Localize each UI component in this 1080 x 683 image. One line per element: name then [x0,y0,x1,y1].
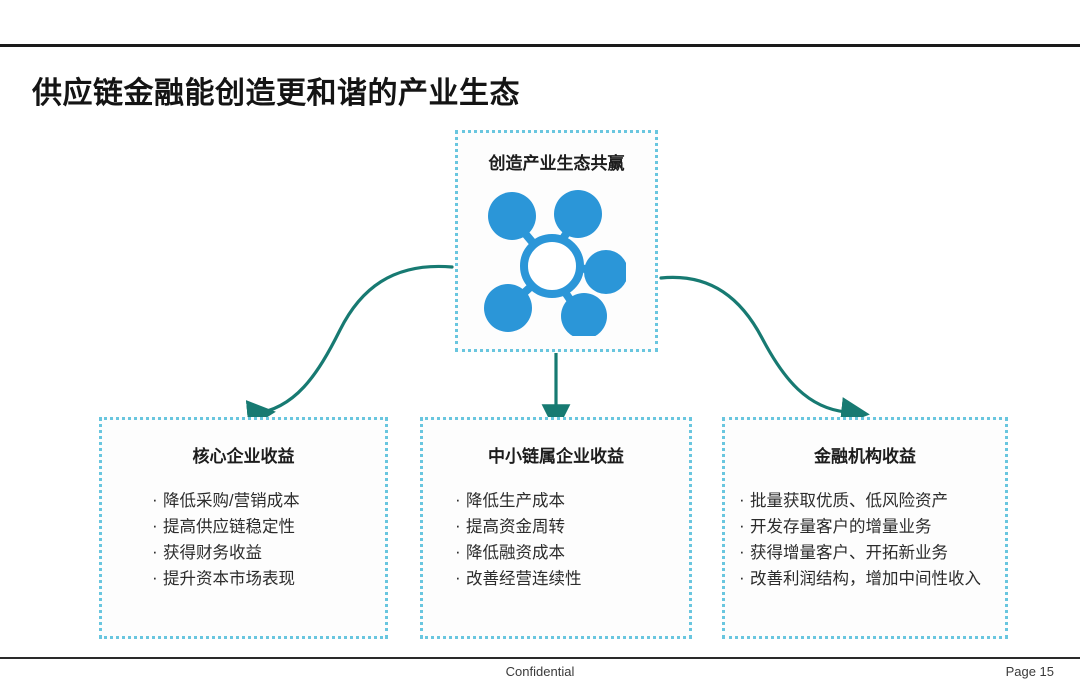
financial-institution-box: 金融机构收益 批量获取优质、低风险资产 开发存量客户的增量业务 获得增量客户、开… [722,417,1008,639]
sme-chain-box: 中小链属企业收益 降低生产成本 提高资金周转 降低融资成本 改善经营连续性 [420,417,692,639]
arrow-to-right-box [661,277,846,412]
list-item: 降低融资成本 [455,540,582,566]
hub-node-top-left [488,192,536,240]
hub-node-top-right [554,190,602,238]
list-item: 提升资本市场表现 [152,566,300,592]
list-item: 改善利润结构，增加中间性收入 [739,566,981,592]
list-item: 改善经营连续性 [455,566,582,592]
footer-divider [0,657,1080,659]
header-divider [0,44,1080,47]
list-item: 提高供应链稳定性 [152,514,300,540]
financial-institution-bullets: 批量获取优质、低风险资产 开发存量客户的增量业务 获得增量客户、开拓新业务 改善… [739,488,981,592]
core-enterprise-bullets: 降低采购/营销成本 提高供应链稳定性 获得财务收益 提升资本市场表现 [152,488,300,592]
sme-chain-bullets: 降低生产成本 提高资金周转 降低融资成本 改善经营连续性 [455,488,582,592]
hub-node-bottom-left [484,284,532,332]
list-item: 获得财务收益 [152,540,300,566]
sme-chain-title: 中小链属企业收益 [423,442,689,467]
core-enterprise-title: 核心企业收益 [102,442,385,467]
list-item: 提高资金周转 [455,514,582,540]
hub-center-ring [524,238,580,294]
footer-confidential: Confidential [0,664,1080,679]
financial-institution-title: 金融机构收益 [725,442,1005,467]
list-item: 开发存量客户的增量业务 [739,514,981,540]
arrow-to-left-box [252,266,452,414]
list-item: 降低采购/营销成本 [152,488,300,514]
network-hub-icon [466,186,626,336]
hub-node-right [584,250,626,294]
ecosystem-box-title: 创造产业生态共赢 [458,149,655,174]
slide-canvas: 供应链金融能创造更和谐的产业生态 创造产业生态共赢 [0,0,1080,683]
core-enterprise-box: 核心企业收益 降低采购/营销成本 提高供应链稳定性 获得财务收益 提升资本市场表… [99,417,388,639]
list-item: 降低生产成本 [455,488,582,514]
footer-page-number: Page 15 [1006,664,1054,679]
page-title: 供应链金融能创造更和谐的产业生态 [32,68,520,112]
list-item: 获得增量客户、开拓新业务 [739,540,981,566]
list-item: 批量获取优质、低风险资产 [739,488,981,514]
